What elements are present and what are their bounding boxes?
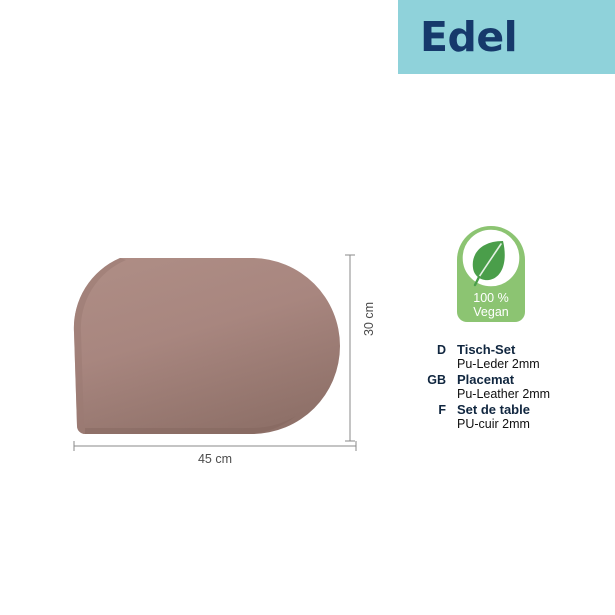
description-row-fr: F Set de table PU-cuir 2mm xyxy=(414,402,604,432)
product-descriptions: D Tisch-Set Pu-Leder 2mm GB Placemat Pu-… xyxy=(414,342,604,432)
product-photo xyxy=(60,240,360,450)
brand-banner: Edel xyxy=(398,0,615,74)
badge-line1: 100 % xyxy=(473,291,508,305)
language-code: D xyxy=(414,343,446,358)
placemat-body xyxy=(74,258,340,434)
product-name: Tisch-Set xyxy=(457,342,540,357)
description-texts: Tisch-Set Pu-Leder 2mm xyxy=(457,342,540,372)
dimension-width: 45 cm xyxy=(70,440,360,474)
badge-line2: Vegan xyxy=(473,305,509,319)
product-name: Placemat xyxy=(457,372,550,387)
dimension-width-label: 45 cm xyxy=(70,452,360,466)
brand-title: Edel xyxy=(420,17,517,58)
product-material: PU-cuir 2mm xyxy=(457,417,530,432)
language-code: GB xyxy=(414,373,446,388)
dimension-height: 30 cm xyxy=(340,252,384,444)
placemat-shape xyxy=(60,240,360,450)
product-material: Pu-Leder 2mm xyxy=(457,357,540,372)
product-name: Set de table xyxy=(457,402,530,417)
vegan-badge-graphic: 100 % Vegan xyxy=(455,224,527,324)
product-material: Pu-Leather 2mm xyxy=(457,387,550,402)
vegan-badge: 100 % Vegan xyxy=(455,224,527,324)
dimension-height-label: 30 cm xyxy=(362,284,376,354)
product-image-canvas: Edel xyxy=(0,0,615,615)
description-texts: Placemat Pu-Leather 2mm xyxy=(457,372,550,402)
description-row-gb: GB Placemat Pu-Leather 2mm xyxy=(414,372,604,402)
description-texts: Set de table PU-cuir 2mm xyxy=(457,402,530,432)
language-code: F xyxy=(414,403,446,418)
description-row-de: D Tisch-Set Pu-Leder 2mm xyxy=(414,342,604,372)
